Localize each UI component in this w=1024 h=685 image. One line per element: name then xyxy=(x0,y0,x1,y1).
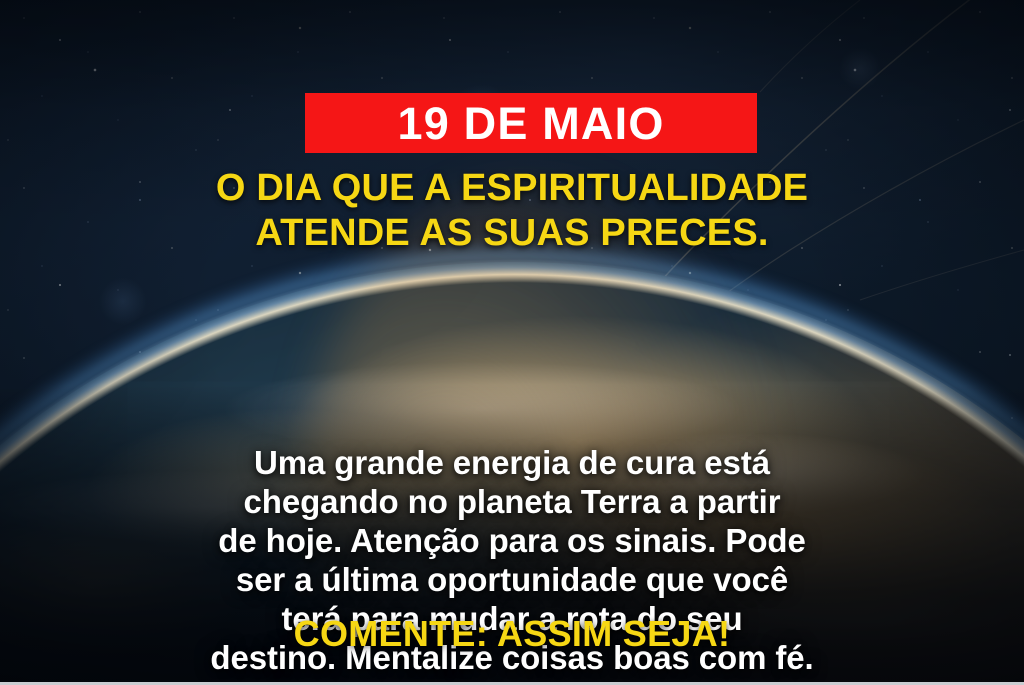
headline-line-2: ATENDE AS SUAS PRECES. xyxy=(0,211,1024,256)
body-line-1: Uma grande energia de cura está xyxy=(0,444,1024,483)
date-banner: 19 DE MAIO xyxy=(305,93,757,153)
body-line-3: de hoje. Atenção para os sinais. Pode xyxy=(0,522,1024,561)
body-line-4: ser a última oportunidade que você xyxy=(0,561,1024,600)
headline: O DIA QUE A ESPIRITUALIDADE ATENDE AS SU… xyxy=(0,166,1024,256)
poster-canvas: 19 DE MAIO O DIA QUE A ESPIRITUALIDADE A… xyxy=(0,0,1024,685)
body-line-2: chegando no planeta Terra a partir xyxy=(0,483,1024,522)
headline-line-1: O DIA QUE A ESPIRITUALIDADE xyxy=(0,166,1024,211)
poster-content: 19 DE MAIO O DIA QUE A ESPIRITUALIDADE A… xyxy=(0,0,1024,685)
date-banner-text: 19 DE MAIO xyxy=(397,101,664,146)
call-to-action-text: COMENTE: ASSIM SEJA! xyxy=(0,614,1024,654)
